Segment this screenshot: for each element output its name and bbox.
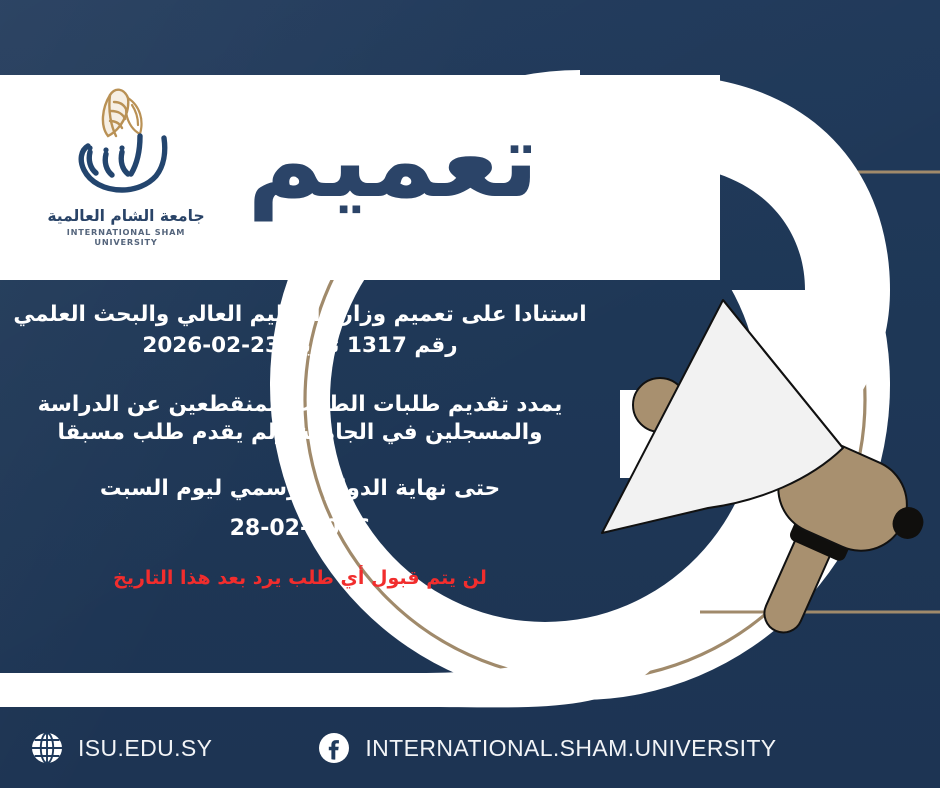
- intro-line-2: رقم 1317 تاريخ 23-02-2026: [0, 331, 600, 362]
- footer-website[interactable]: ISU.EDU.SY: [30, 731, 212, 765]
- logo-mark-icon: [36, 78, 216, 206]
- poster-canvas: جامعة الشام العالمية INTERNATIONAL SHAM …: [0, 0, 940, 788]
- paragraph-deadline: حتى نهاية الدوام الرسمي ليوم السبت 28-02…: [0, 469, 600, 549]
- paragraph-main: يمدد تقديم طلبات الطلاب المنقطعين عن الد…: [0, 391, 600, 447]
- logo-name-english: INTERNATIONAL SHAM UNIVERSITY: [36, 227, 216, 247]
- logo-name-arabic: جامعة الشام العالمية: [36, 208, 216, 225]
- footer-bar: ISU.EDU.SY INTERNATIONAL.SHAM.UNIVERSITY: [0, 708, 940, 788]
- megaphone-illustration: [590, 265, 940, 665]
- main-line-1: يمدد تقديم طلبات الطلاب المنقطعين عن الد…: [0, 391, 600, 419]
- warning-text: لن يتم قبول أي طلب يرد بعد هذا التاريخ: [0, 567, 600, 589]
- facebook-icon: [317, 731, 351, 765]
- deadline-date: 28-02-2026: [0, 509, 600, 550]
- footer-facebook[interactable]: INTERNATIONAL.SHAM.UNIVERSITY: [317, 731, 776, 765]
- intro-line-1: استنادا على تعميم وزارة التعليم العالي و…: [0, 300, 600, 331]
- globe-icon: [30, 731, 64, 765]
- main-line-2: والمسجلين في الجامعة ولم يقدم طلب مسبقا: [0, 419, 600, 447]
- page-title: تعميم: [228, 92, 558, 229]
- notice-body: استنادا على تعميم وزارة التعليم العالي و…: [0, 300, 600, 589]
- university-logo: جامعة الشام العالمية INTERNATIONAL SHAM …: [36, 78, 216, 250]
- deadline-line-1: حتى نهاية الدوام الرسمي ليوم السبت: [0, 469, 600, 509]
- paragraph-intro: استنادا على تعميم وزارة التعليم العالي و…: [0, 300, 600, 361]
- footer-website-label: ISU.EDU.SY: [78, 735, 212, 762]
- footer-facebook-label: INTERNATIONAL.SHAM.UNIVERSITY: [365, 735, 776, 762]
